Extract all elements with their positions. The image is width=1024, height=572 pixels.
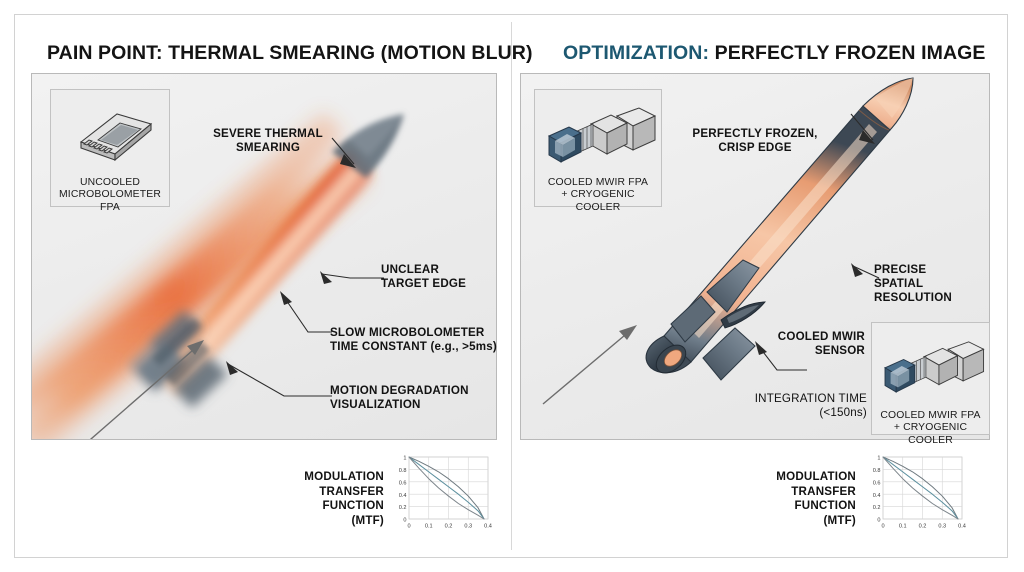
svg-text:0.3: 0.3 <box>464 524 472 530</box>
microbolometer-chip-icon <box>51 98 169 170</box>
right-panel-title: OPTIMIZATION: PERFECTLY FROZEN IMAGE <box>563 42 986 65</box>
left-title-accent: PAIN POINT: <box>47 42 163 64</box>
inset-cooled-mwir-top: COOLED MWIR FPA + CRYOGENIC COOLER <box>534 89 662 207</box>
svg-text:1: 1 <box>403 456 406 462</box>
svg-text:0: 0 <box>877 518 880 524</box>
inset-cooled-bottom-caption: COOLED MWIR FPA + CRYOGENIC COOLER <box>872 410 989 447</box>
svg-text:0.6: 0.6 <box>873 480 881 486</box>
anno-perfectly-frozen-crisp-edge: PERFECTLY FROZEN, CRISP EDGE <box>690 127 820 155</box>
anno-cooled-mwir-sensor: COOLED MWIR SENSOR <box>755 330 865 358</box>
cooled-mwir-fpa-cryocooler-icon <box>872 331 989 403</box>
svg-text:0.2: 0.2 <box>445 524 453 530</box>
svg-text:1: 1 <box>877 456 880 462</box>
mtf-label-right: MODULATION TRANSFER FUNCTION (MTF) <box>760 470 856 528</box>
inset-uncooled-microbolometer: UNCOOLED MICROBOLOMETER FPA <box>50 89 170 207</box>
anno-motion-degradation: MOTION DEGRADATION VISUALIZATION <box>330 384 490 412</box>
anno-slow-time-constant: SLOW MICROBOLOMETER TIME CONSTANT (e.g.,… <box>330 326 500 354</box>
left-panel-title: PAIN POINT: THERMAL SMEARING (MOTION BLU… <box>47 42 533 65</box>
svg-text:0.6: 0.6 <box>399 480 407 486</box>
svg-text:0.4: 0.4 <box>399 493 407 499</box>
inset-cooled-mwir-bottom: COOLED MWIR FPA + CRYOGENIC COOLER <box>871 322 990 435</box>
svg-text:0.8: 0.8 <box>399 468 407 474</box>
motion-direction-arrow <box>543 330 631 404</box>
svg-text:0.4: 0.4 <box>484 524 492 530</box>
svg-text:0.3: 0.3 <box>938 524 946 530</box>
svg-text:0.2: 0.2 <box>873 505 881 511</box>
svg-text:0.2: 0.2 <box>399 505 407 511</box>
mtf-chart-right: 00.20.40.60.8100.10.20.30.4 <box>866 450 966 533</box>
anno-severe-thermal-smearing: SEVERE THERMAL SMEARING <box>205 127 331 155</box>
svg-text:0: 0 <box>881 524 884 530</box>
right-title-accent: OPTIMIZATION: <box>563 42 709 64</box>
infographic-root: PAIN POINT: THERMAL SMEARING (MOTION BLU… <box>0 0 1024 572</box>
inset-uncooled-caption: UNCOOLED MICROBOLOMETER FPA <box>51 177 169 214</box>
mtf-label-left: MODULATION TRANSFER FUNCTION (MTF) <box>288 470 384 528</box>
svg-text:0.1: 0.1 <box>425 524 433 530</box>
mtf-plot: 00.20.40.60.8100.10.20.30.4 <box>392 450 492 533</box>
svg-text:0.4: 0.4 <box>958 524 966 530</box>
anno-integration-time: INTEGRATION TIME (<150ns) <box>727 392 867 420</box>
mtf-chart-left: 00.20.40.60.8100.10.20.30.4 <box>392 450 492 533</box>
svg-text:0: 0 <box>407 524 410 530</box>
left-title-rest: THERMAL SMEARING (MOTION BLUR) <box>163 42 533 64</box>
svg-text:0.4: 0.4 <box>873 493 881 499</box>
svg-text:0.2: 0.2 <box>919 524 927 530</box>
inset-cooled-top-caption: COOLED MWIR FPA + CRYOGENIC COOLER <box>535 177 661 214</box>
mtf-plot: 00.20.40.60.8100.10.20.30.4 <box>866 450 966 533</box>
svg-text:0.1: 0.1 <box>899 524 907 530</box>
right-title-rest: PERFECTLY FROZEN IMAGE <box>709 42 985 64</box>
anno-unclear-target-edge: UNCLEAR TARGET EDGE <box>381 263 491 291</box>
anno-precise-spatial-resolution: PRECISE SPATIAL RESOLUTION <box>874 263 978 305</box>
panel-divider <box>511 22 512 550</box>
cooled-mwir-fpa-cryocooler-icon <box>535 98 661 170</box>
svg-text:0.8: 0.8 <box>873 468 881 474</box>
svg-text:0: 0 <box>403 518 406 524</box>
